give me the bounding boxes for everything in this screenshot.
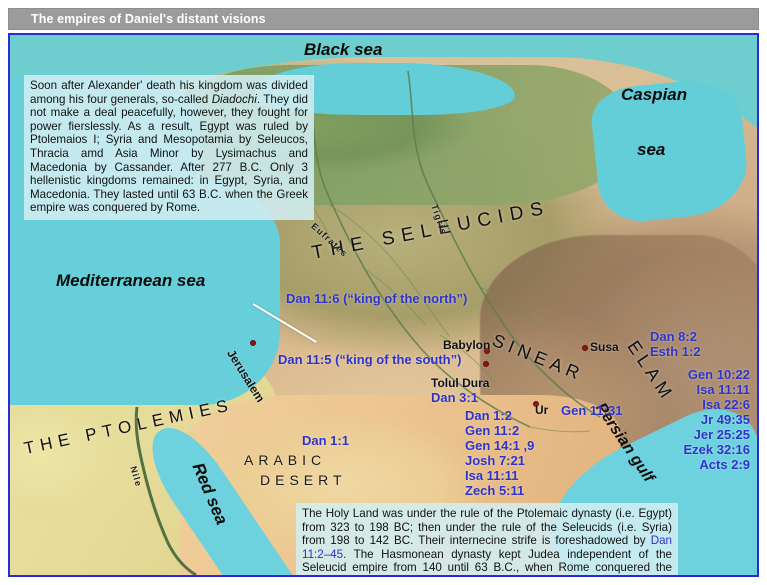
diadochi-note-seg-1: Diadochi [212, 93, 257, 106]
ref-jr-49-35: Jr 49:35 [610, 412, 750, 427]
screenshot-root: The empires of Daniel's distant visions [0, 0, 767, 585]
ref-isa-11-11b: Isa 11:11 [610, 382, 750, 397]
ref-isa-11-11: Isa 11:11 [465, 468, 534, 483]
map-frame: Black sea Caspian sea Mediterranean sea … [8, 33, 759, 577]
window-title-bar: The empires of Daniel's distant visions [8, 8, 759, 30]
diadochi-note-seg-2: . They did not make a deal peacefully, h… [30, 93, 308, 215]
caspian-sea-label-line2: sea [637, 140, 665, 160]
arabic-desert-label-line1: ARABIC [244, 452, 326, 468]
ref-ezek-32-16: Ezek 32:16 [610, 442, 750, 457]
susa-dot [582, 345, 588, 351]
ref-dan-1-1: Dan 1:1 [302, 433, 349, 448]
ref-gen-11-2: Gen 11:2 [465, 423, 534, 438]
babylon-reference-column: Dan 1:2 Gen 11:2 Gen 14:1 ,9 Josh 7:21 I… [465, 408, 534, 498]
elam-reference-column: Gen 10:22 Isa 11:11 Isa 22:6 Jr 49:35 Je… [610, 367, 750, 472]
susa-reference-column: Dan 8:2 Esth 1:2 [650, 329, 701, 359]
the-seleucids-label: THE SELEUCIDS [310, 220, 552, 242]
map-canvas: Black sea Caspian sea Mediterranean sea … [10, 35, 757, 575]
ur-label: Ur [535, 403, 548, 417]
susa-label: Susa [590, 340, 619, 354]
ref-dan-11-5: Dan 11:5 (“king of the south”) [278, 352, 461, 367]
holy-land-note-seg-0: The Holy Land was under the rule of the … [302, 507, 672, 547]
ref-josh-7-21: Josh 7:21 [465, 453, 534, 468]
ref-zech-5-11: Zech 5:11 [465, 483, 534, 498]
diadochi-note: Soon after Alexander' death his kingdom … [24, 75, 314, 220]
holy-land-note-seg-2: . The Hasmonean dynasty kept Judea indep… [302, 548, 672, 575]
mediterranean-sea-label: Mediterranean sea [56, 271, 205, 291]
the-ptolemies-label: THE PTOLEMIES [22, 417, 236, 437]
page-title: The empires of Daniel's distant visions [31, 12, 266, 26]
tolul-dura-dot [483, 361, 489, 367]
arabic-desert-label-line2: DESERT [260, 472, 347, 488]
ref-acts-2-9: Acts 2:9 [610, 457, 750, 472]
ref-isa-22-6: Isa 22:6 [610, 397, 750, 412]
ref-dan-8-2: Dan 8:2 [650, 329, 701, 344]
holy-land-note: The Holy Land was under the rule of the … [296, 503, 678, 575]
babylon-label: Babylon [443, 338, 490, 352]
black-sea-label: Black sea [304, 40, 382, 60]
ref-dan-1-2: Dan 1:2 [465, 408, 534, 423]
ref-gen-10-22: Gen 10:22 [610, 367, 750, 382]
jerusalem-dot [250, 340, 256, 346]
ref-dan-11-6: Dan 11:6 (“king of the north”) [286, 291, 467, 306]
ref-gen-14-1-9: Gen 14:1 ,9 [465, 438, 534, 453]
ref-esth-1-2: Esth 1:2 [650, 344, 701, 359]
ref-jer-25-25: Jer 25:25 [610, 427, 750, 442]
tolul-dura-label: Tolul Dura [431, 376, 489, 390]
caspian-sea-label-line1: Caspian [621, 85, 687, 105]
ref-dan-3-1: Dan 3:1 [431, 390, 478, 405]
